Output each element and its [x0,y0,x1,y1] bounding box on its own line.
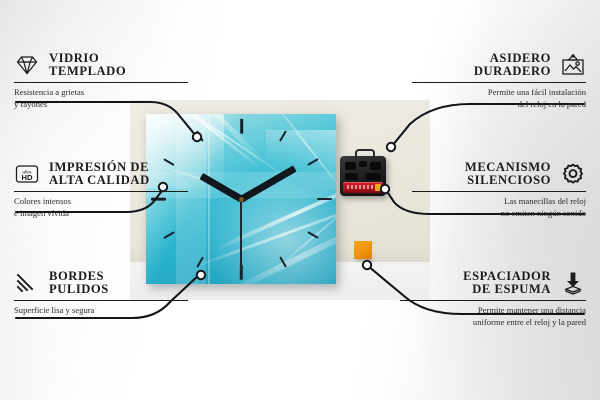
feature-title-line: SILENCIOSO [465,174,551,187]
feature-title-line: ESPACIADOR [463,270,551,283]
feature-title: ESPACIADOR DE ESPUMA [463,270,551,297]
feature-rule [14,82,188,83]
feature-title-line: VIDRIO [49,52,126,65]
connector-dot-4 [387,143,395,151]
polished-edges-icon [14,270,40,296]
feature-description: Superficie lisa y segura [14,305,200,317]
connector-dot-6 [363,261,371,269]
diamond-icon [14,52,40,78]
gear-icon [560,161,586,187]
feature-bordes-pulidos: BORDES PULIDOS Superficie lisa y segura [14,270,200,317]
ultra-hd-icon: ultra HD [14,161,40,187]
feature-description: Resistencia a grietas y rayones [14,87,200,110]
feature-asidero-duradero: ASIDERO DURADERO Permite una fácil insta… [400,52,586,110]
connector-dot-1 [193,133,201,141]
feature-title-line: ALTA CALIDAD [49,174,150,187]
feature-title: MECANISMO SILENCIOSO [465,161,551,188]
feature-description: Colores intensos e imagen vívida [14,196,200,219]
svg-text:HD: HD [22,173,33,182]
feature-rule [400,300,586,301]
picture-frame-icon [560,52,586,78]
feature-title: IMPRESIÓN DE ALTA CALIDAD [49,161,150,188]
feature-title: VIDRIO TEMPLADO [49,52,126,79]
feature-title-line: ASIDERO [474,52,551,65]
feature-description: Las manecillas del reloj no emiten ningú… [400,196,586,219]
feature-title: ASIDERO DURADERO [474,52,551,79]
feature-rule [14,300,188,301]
feature-title-line: DURADERO [474,65,551,78]
feature-rule [14,191,188,192]
infographic-canvas: VIDRIO TEMPLADO Resistencia a grietas y … [0,0,600,400]
feature-title-line: DE ESPUMA [463,283,551,296]
feature-title-line: MECANISMO [465,161,551,174]
feature-description: Permite mantener una distancia uniforme … [388,305,586,328]
feature-title-line: TEMPLADO [49,65,126,78]
feature-rule [412,82,586,83]
foam-spacer-icon [560,270,586,296]
feature-title-line: PULIDOS [49,283,109,296]
feature-vidrio-templado: VIDRIO TEMPLADO Resistencia a grietas y … [14,52,200,110]
feature-espaciador-espuma: ESPACIADOR DE ESPUMA Permite mantener un… [388,270,586,328]
feature-title-line: BORDES [49,270,109,283]
connector-dot-5 [381,185,389,193]
feature-rule [412,191,586,192]
feature-description: Permite una fácil instalación del reloj … [400,87,586,110]
feature-title: BORDES PULIDOS [49,270,109,297]
feature-impresion-alta-calidad: ultra HD IMPRESIÓN DE ALTA CALIDAD Color… [14,161,200,219]
connector-line-4 [392,104,584,146]
feature-title-line: IMPRESIÓN DE [49,161,150,174]
feature-mecanismo-silencioso: MECANISMO SILENCIOSO Las manecillas del … [400,161,586,219]
